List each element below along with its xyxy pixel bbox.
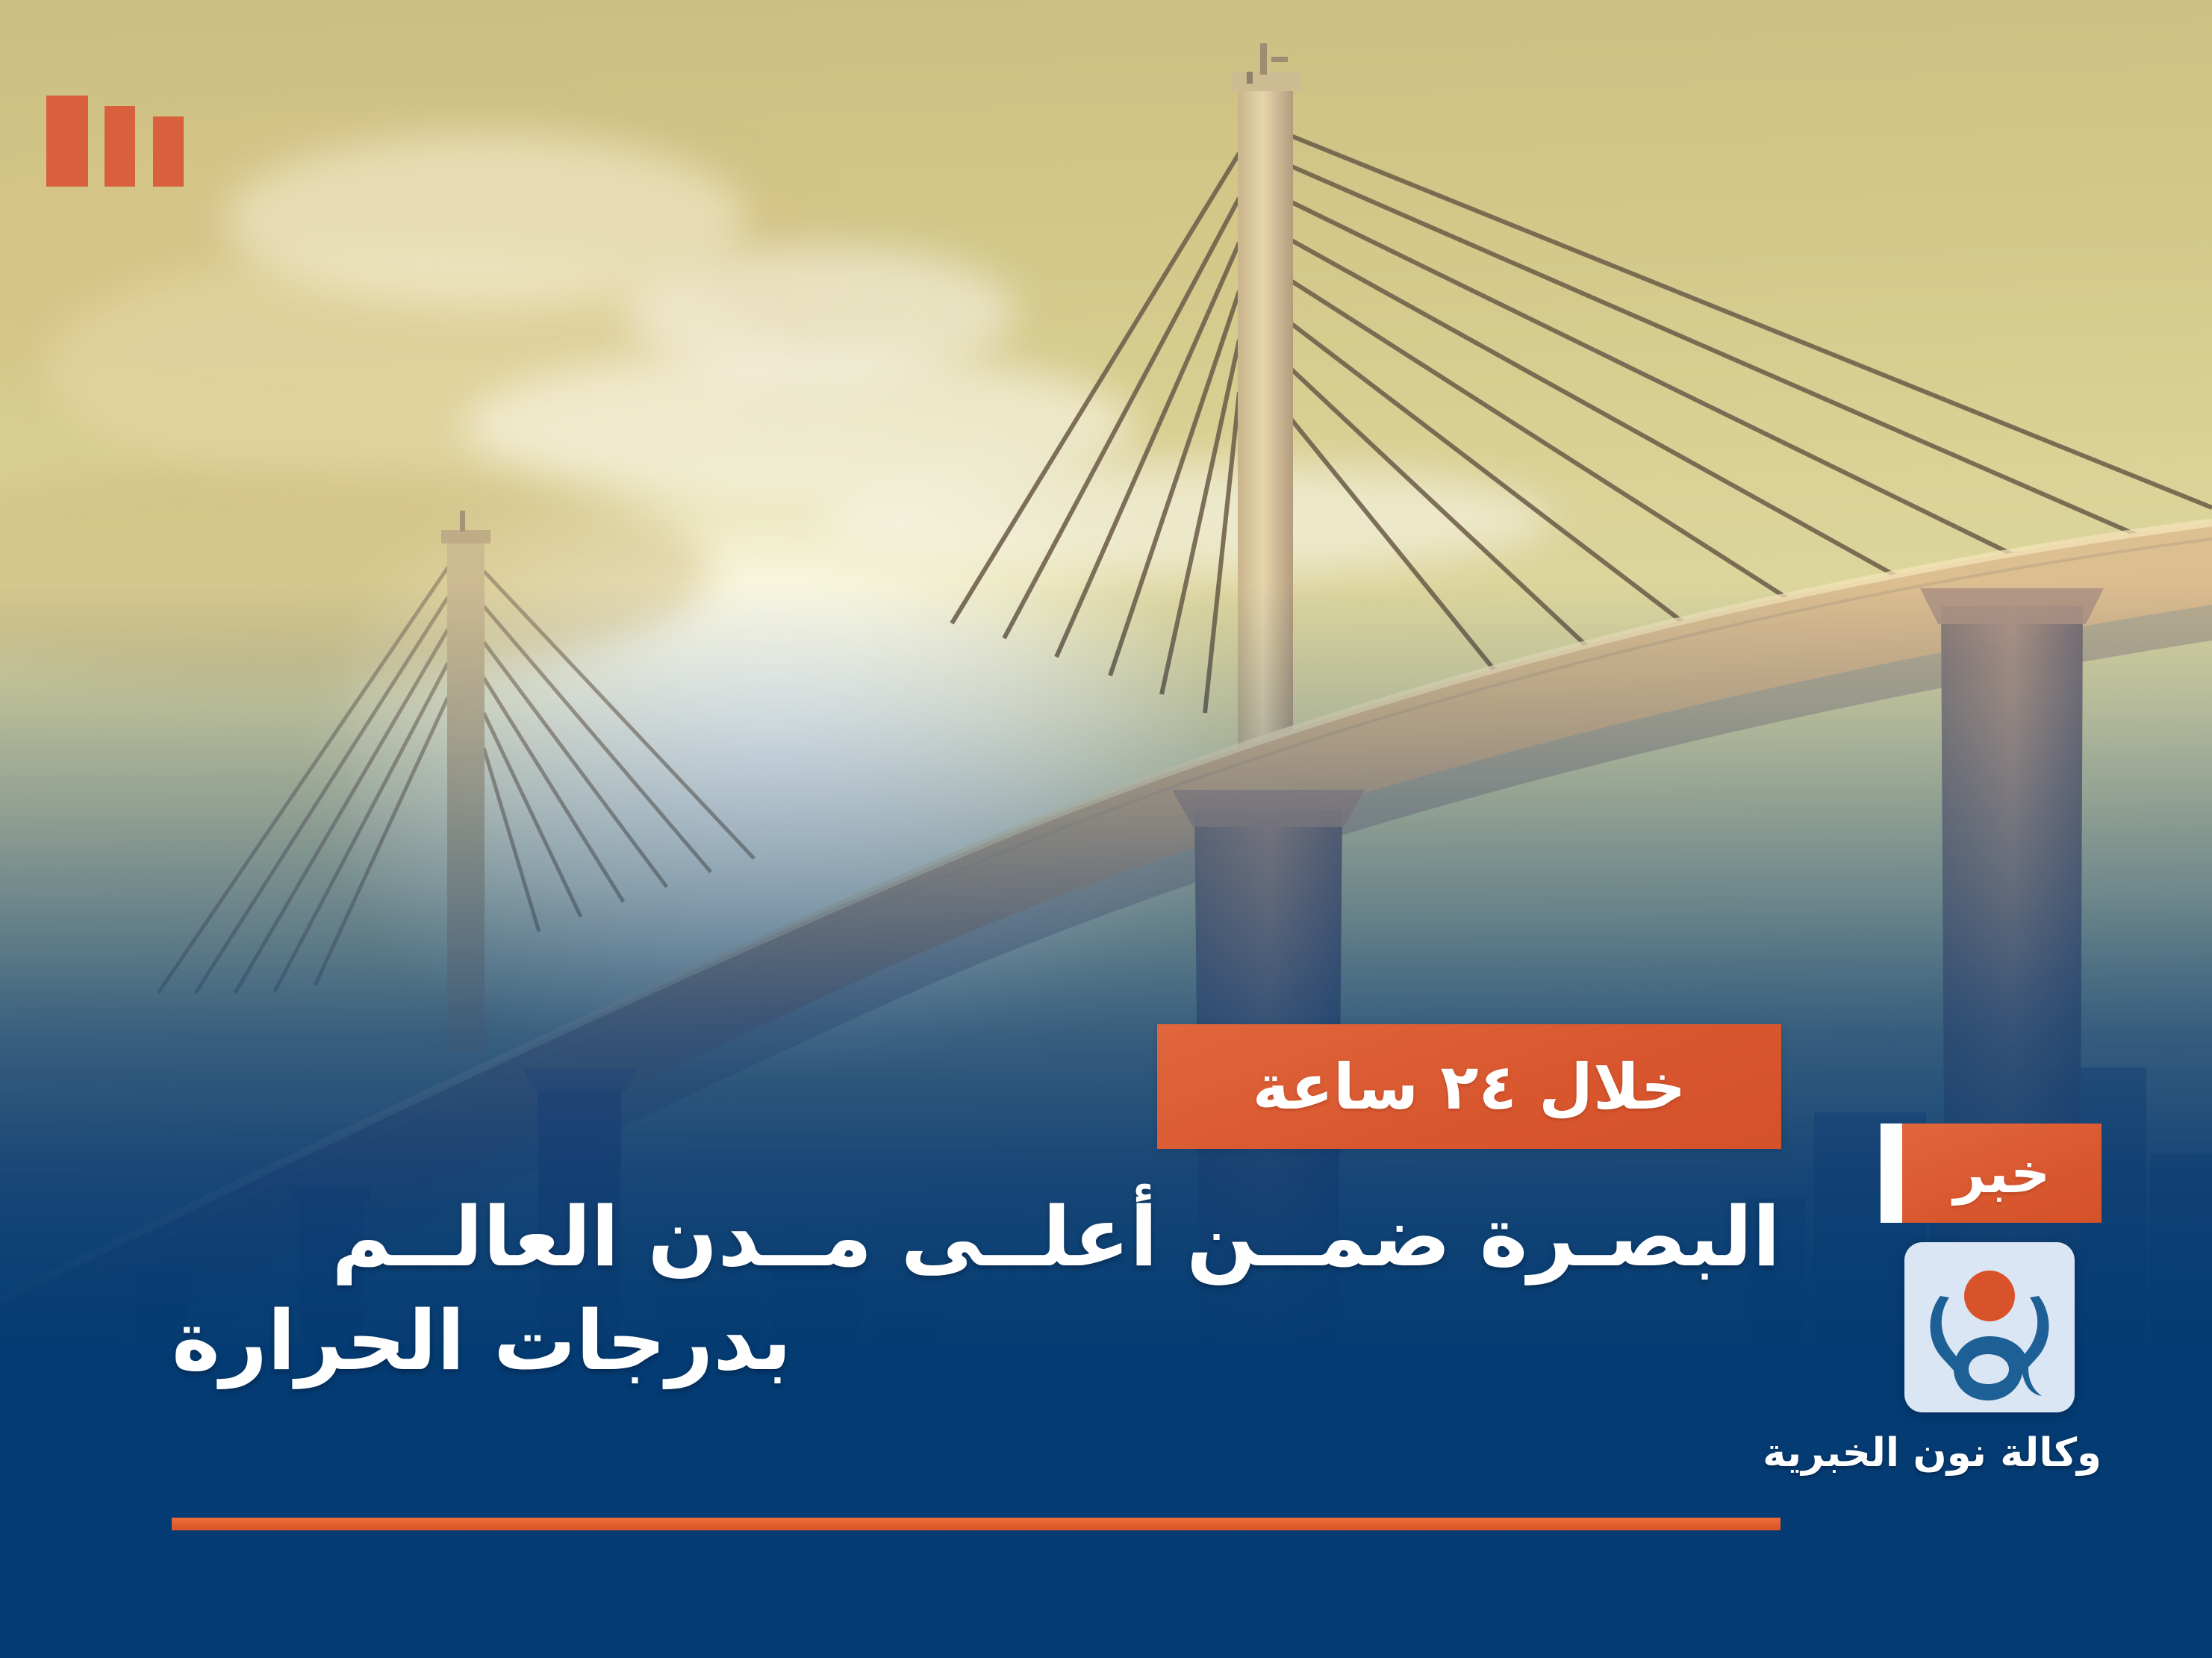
news-badge-white-tab <box>1881 1123 1902 1223</box>
accent-rule <box>172 1518 1780 1530</box>
headline: البصـرة ضمــن أعلــى مــدن العالــم بدرج… <box>172 1185 1780 1392</box>
news-badge: خبر <box>1881 1123 2102 1223</box>
headline-line-2: بدرجات الحرارة <box>172 1289 1780 1393</box>
brand-block: خبر وكالة نون الخبرية <box>1878 1123 2102 1475</box>
kicker-label: خلال ٢٤ ساعة <box>1253 1056 1686 1118</box>
headline-line-1: البصـرة ضمــن أعلــى مــدن العالــم <box>172 1185 1780 1289</box>
bar-2 <box>105 106 135 187</box>
news-card: خلال ٢٤ ساعة البصـرة ضمــن أعلــى مــدن … <box>0 0 2212 1658</box>
news-badge-orange: خبر <box>1902 1123 2102 1223</box>
bar-1 <box>46 96 88 187</box>
bar-3 <box>153 116 184 187</box>
agency-name: وكالة نون الخبرية <box>1878 1432 2102 1475</box>
news-badge-label: خبر <box>1954 1146 2051 1201</box>
agency-logo-icon <box>1904 1242 2075 1412</box>
kicker-badge: خلال ٢٤ ساعة <box>1157 1024 1781 1149</box>
